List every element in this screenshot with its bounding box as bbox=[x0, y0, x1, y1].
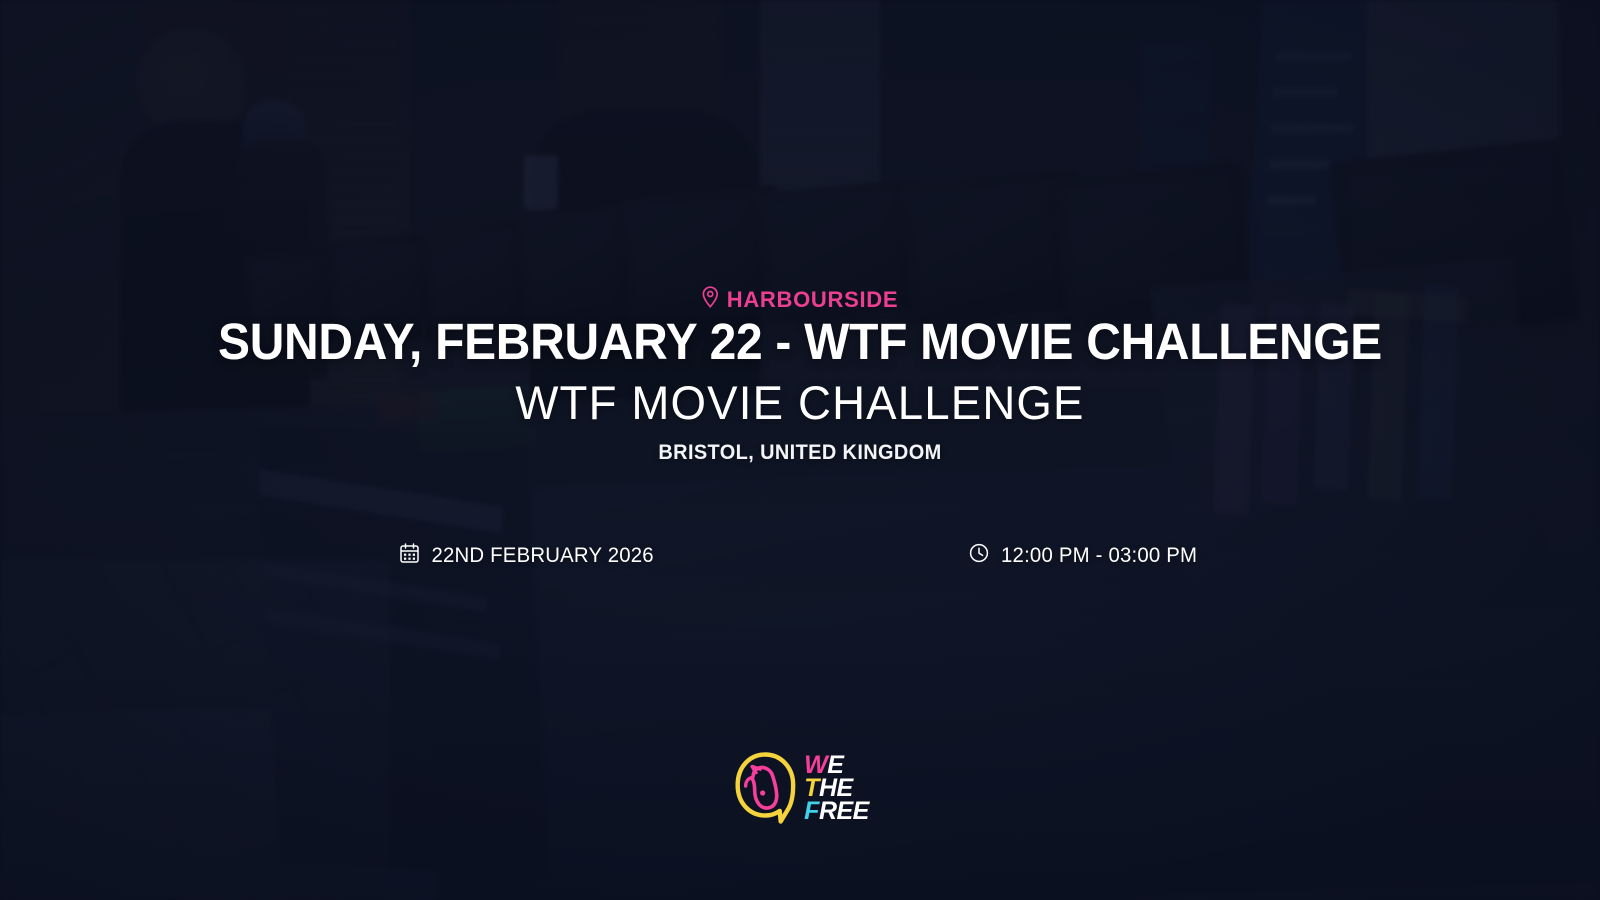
map-pin-icon bbox=[702, 286, 719, 313]
event-time: 12:00 PM - 03:00 PM bbox=[969, 543, 1200, 569]
event-date-text: 22ND FEBRUARY 2026 bbox=[431, 544, 653, 568]
event-subtitle: WTF MOVIE CHALLENGE bbox=[24, 376, 1576, 430]
brand-line-3-accent: F bbox=[804, 797, 819, 825]
event-hero-banner: HARBOURSIDE SUNDAY, FEBRUARY 22 - WTF MO… bbox=[0, 0, 1600, 900]
brand-logo[interactable]: WE THE FREE bbox=[731, 748, 869, 829]
event-time-text: 12:00 PM - 03:00 PM bbox=[1001, 544, 1197, 568]
brand-line-3: FREE bbox=[804, 800, 869, 823]
page-title: SUNDAY, FEBRUARY 22 - WTF MOVIE CHALLENG… bbox=[48, 313, 1552, 370]
brand-line-3-rest: REE bbox=[819, 797, 869, 825]
venue-label: HARBOURSIDE bbox=[727, 287, 899, 313]
calendar-icon bbox=[400, 543, 419, 569]
hero-content: HARBOURSIDE SUNDAY, FEBRUARY 22 - WTF MO… bbox=[0, 0, 1600, 900]
venue-row: HARBOURSIDE bbox=[702, 286, 899, 313]
brand-wordmark: WE THE FREE bbox=[804, 754, 869, 823]
event-meta-row: 22ND FEBRUARY 2026 12:00 PM - 03:00 PM bbox=[400, 543, 1200, 569]
horse-head-in-circle-icon bbox=[731, 748, 799, 829]
clock-icon bbox=[969, 543, 989, 569]
event-date: 22ND FEBRUARY 2026 bbox=[400, 543, 657, 569]
event-location: BRISTOL, UNITED KINGDOM bbox=[40, 441, 1560, 465]
